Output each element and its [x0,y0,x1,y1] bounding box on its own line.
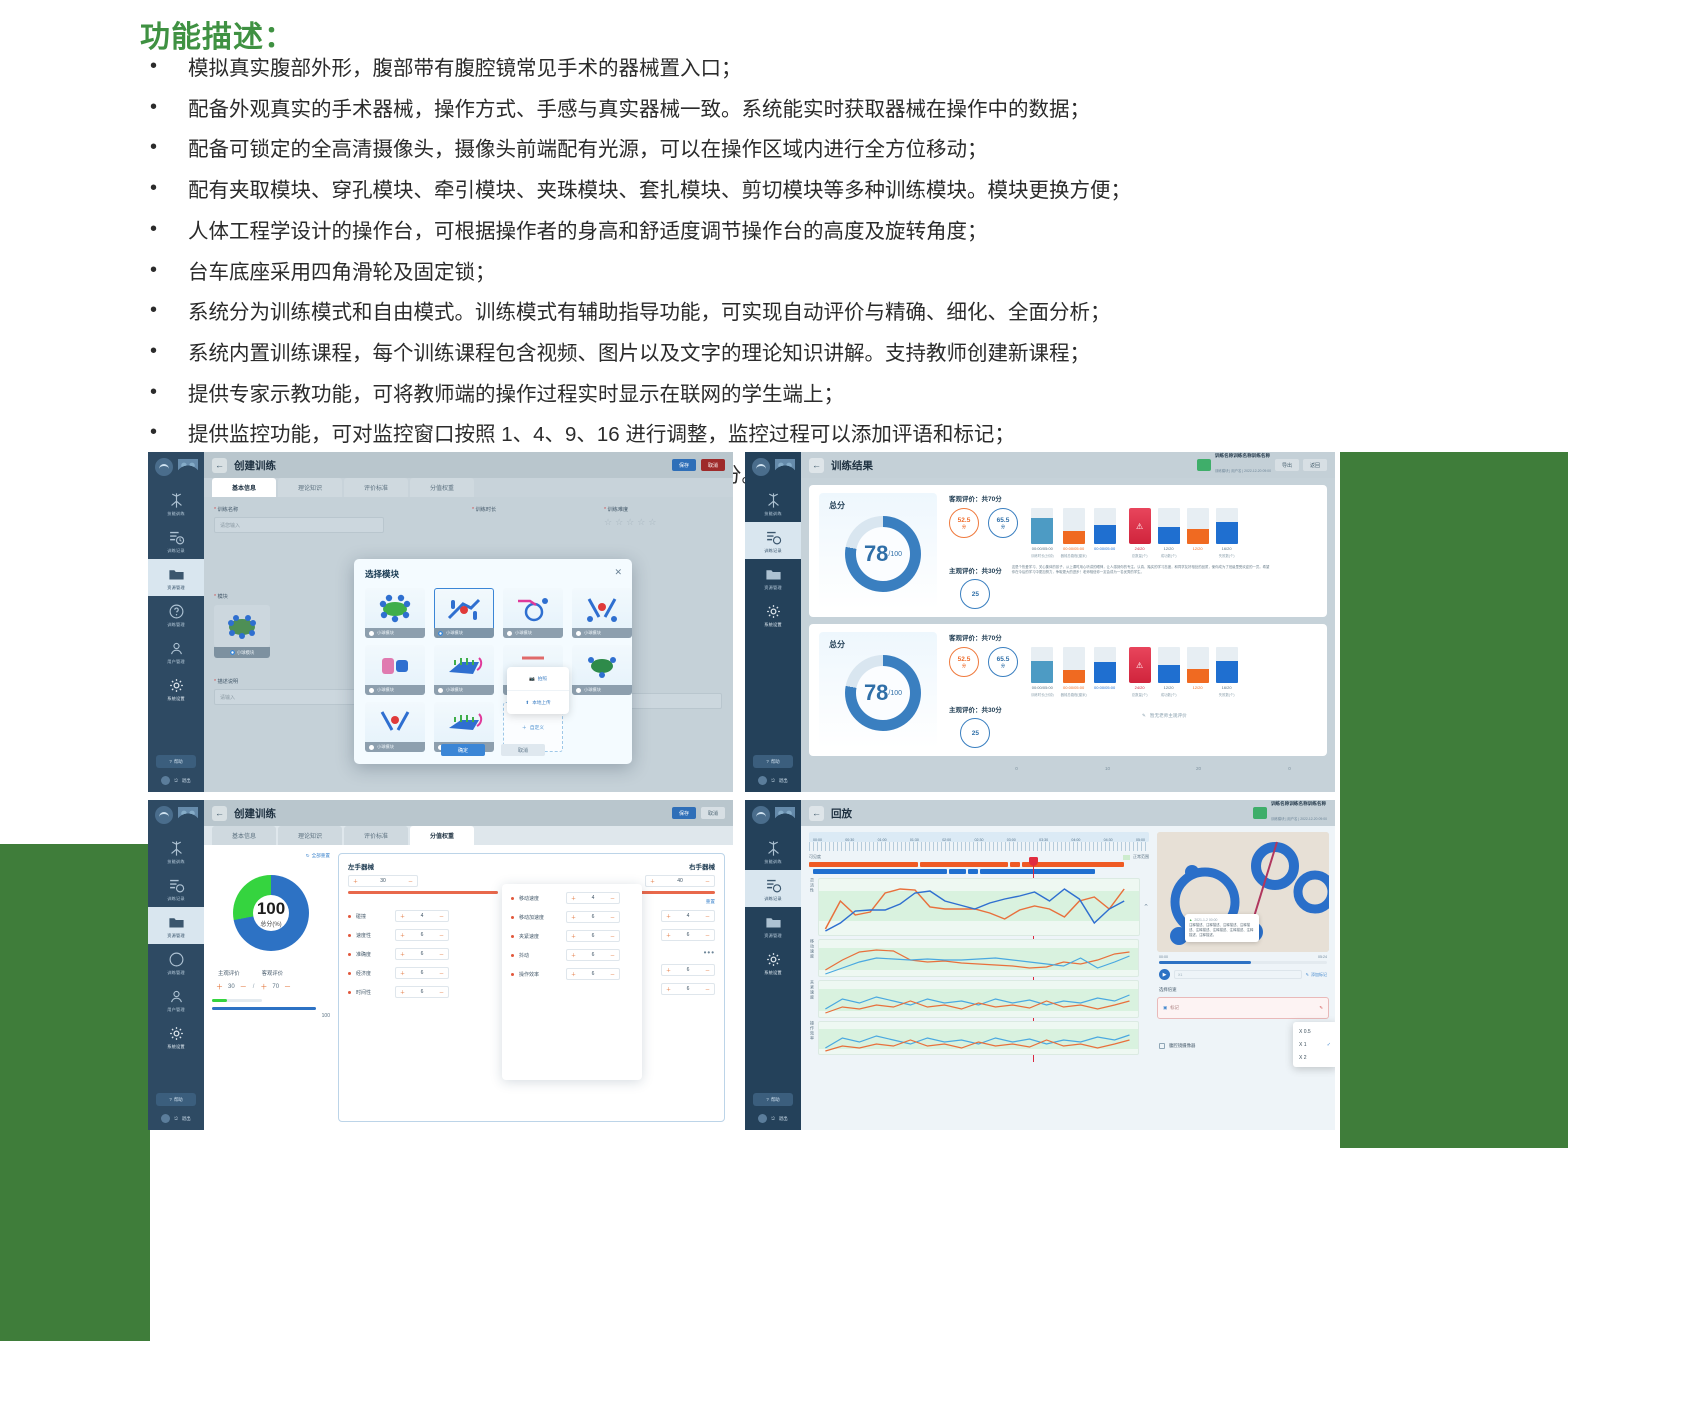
check-icon: ✓ [1327,1042,1331,1048]
bar-item: 00:00/05:00训练时长(分钟) [1031,647,1054,697]
left-hand-title: 左手器械 [348,861,374,871]
more-dots-icon[interactable]: ••• [704,948,715,957]
param-stepper[interactable]: ＋4－ [661,910,715,922]
minus-icon[interactable]: － [705,986,710,993]
bar-item: 12/20 [1187,508,1209,558]
alert-icon: ⚠ [1129,647,1151,683]
bullet-icon [348,972,351,975]
logout-icon: ⎋ [771,1116,774,1121]
bar-caption: 16/20 [1222,685,1232,690]
confirm-button[interactable]: 确定 [441,744,485,756]
ruler-tick: 03:00 [1007,838,1016,842]
help-button[interactable]: ? 帮助 [753,755,793,768]
module-card[interactable]: 小球模块 [572,645,632,695]
minus-icon[interactable]: － [439,932,444,939]
back-arrow-icon[interactable]: ← [212,458,227,473]
user-row[interactable]: ⎋ 退出 [745,1114,801,1126]
param-row: 准确度＋6－ [348,948,526,960]
total-score-donut: 78 /100 [845,655,921,731]
required-mark: * [472,507,474,513]
radio-icon[interactable] [438,631,443,636]
bar-sublabel: 成功数(个) [1161,553,1177,558]
topbar: ← 训练结果 训练名称训练名称训练名称 训练模块 | 用户名 | 2022-12… [801,452,1335,478]
param-stepper[interactable]: ＋4－ [395,910,449,922]
star-icon[interactable]: ☆ [615,517,623,528]
param-stepper[interactable]: ＋6－ [661,929,715,941]
dialog-title: 选择模块 [365,568,621,580]
plus-icon[interactable]: ＋ [571,971,576,978]
sidebar-item-system-settings[interactable]: 系统设置 [148,1018,204,1055]
list-item: 配备外观真实的手术器械，操作方式、手感与真实器械一致。系统能实时获取器械在操作中… [140,95,1210,125]
minus-icon[interactable]: － [705,913,710,920]
plus-icon[interactable]: ＋ [666,986,671,993]
radio-icon[interactable] [576,688,581,693]
subjective-stepper[interactable]: ＋ 30 － [216,982,247,992]
logo-icon [155,458,173,476]
radio-icon[interactable] [369,688,374,693]
module-label-row[interactable]: 小球模块 [572,628,632,638]
teacher-comment: 这是个热爱学习、关心集体的孩子，从上课时用心听讲的眼神，让人感到你的专注。认真、… [1012,565,1272,575]
sidebar-item-label: 技能训练 [764,859,782,865]
minus-icon[interactable]: － [408,878,413,885]
subjective-block: 主观评价：共30分 25 [949,704,1002,748]
local-upload-option[interactable]: ⬆本地上传 [507,690,569,714]
sidebar-item-resource-management[interactable]: 资源管理 [148,907,204,944]
plus-icon[interactable]: ＋ [571,933,576,940]
bar-caption: 16/20 [1222,546,1232,551]
axis-tick: 10 [1062,766,1153,771]
module-label-row[interactable]: 小球模块 [503,628,563,638]
minus-icon[interactable]: － [610,971,615,978]
camera-tag-row[interactable]: ▣ 标记 ✎ [1157,997,1329,1019]
param-row: 夹紧速度＋6－ [511,930,633,942]
module-card[interactable]: 小球模块 [365,645,425,695]
bar-item-alert: ⚠24/20总数量(个) [1129,647,1151,697]
anatomy-icon [765,492,782,509]
objective-value: 70 [272,984,279,990]
param-stepper[interactable]: ＋4－ [566,892,620,904]
chart-axis-label: 移动速度 [809,939,815,977]
minus-icon[interactable]: － [439,913,444,920]
screenshot-score-weight: 技能训练 训练记录 资源管理 训练管理 用户管理 系统设置 [148,800,733,1130]
param-detail-popover: 移动速度＋4－ 移动加速度＋6－ 夹紧速度＋6－ 抖动＋6－ 操作效率＋6－ [502,884,642,1080]
sidebar-item-skill-training[interactable]: 技能训练 [745,833,801,870]
sidebar-item-training-records[interactable]: 训练记录 [148,522,204,559]
feature-list: 模拟真实腹部外形，腹部带有腹腔镜常见手术的器械置入口； 配备外观真实的手术器械，… [140,54,1210,502]
add-mark-button[interactable]: ✎ 添加标记 [1306,972,1327,978]
sidebar-footer: ? 帮助 ⎋ 退出 [148,755,204,788]
right-hand-stepper[interactable]: ＋40－ [645,875,715,887]
param-row: 移动速度＋4－ [511,892,633,904]
param-stepper[interactable]: ＋6－ [566,911,620,923]
speed-dropdown: X 0.5 X 1✓ X 2 [1293,1022,1335,1067]
subjective-score-ring: 25 [960,718,990,748]
plus-icon[interactable]: ＋ [650,878,655,885]
dialog-actions: 确定 取消 [354,744,632,756]
bar-track [1094,508,1116,544]
minus-icon[interactable]: － [705,967,710,974]
video-progress[interactable] [1159,961,1327,964]
bar-caption: 00:00/05:00 [1063,685,1084,690]
training-name-input[interactable]: 请您输入 [214,517,384,533]
bar-item: 12/20 [1187,647,1209,697]
field-label: * 训练名称 [214,506,384,513]
cancel-button[interactable]: 取消 [701,807,725,819]
bar-track [1158,508,1180,544]
upload-icon: ⬆ [525,700,529,706]
star-icon[interactable]: ☆ [648,517,656,528]
param-stepper[interactable]: ＋6－ [661,983,715,995]
bar-sublabel: 训练时长(分钟) [1031,692,1054,697]
param-stepper[interactable]: ＋6－ [395,948,449,960]
bar-caption: 12/20 [1164,546,1174,551]
tab-basic-info[interactable]: 基本信息 [212,478,276,497]
module-illustration-icon [374,708,416,736]
plus-icon[interactable]: ＋ [400,951,405,958]
module-label-row[interactable]: 小球模块 [572,685,632,695]
tab-score-weight[interactable]: 分值权重 [410,478,474,497]
minus-icon[interactable]: － [705,932,710,939]
module-thumbnail [572,645,632,685]
back-button[interactable]: 返回 [1303,459,1327,471]
save-button[interactable]: 保存 [672,807,696,819]
list-item: 系统分为训练模式和自由模式。训练模式有辅助指导功能，可实现自动评价与精确、细化、… [140,298,1210,328]
play-icon[interactable]: ▶ [1159,969,1170,980]
weight-summary: ↻ 全部重置 100 总分(%) 主观评价 客观评价 [212,853,330,1122]
radio-icon[interactable] [507,631,512,636]
sidebar-footer: ? 帮助 ⎋ 退出 [148,1093,204,1126]
help-label: 帮助 [174,759,183,765]
bar-fill [1216,522,1238,544]
sidebar: 技能训练 训练记录 资源管理 训练管理 用户管理 系统设置 [148,800,204,1130]
ruler-tick: 04:00 [1071,838,1080,842]
save-button[interactable]: 保存 [672,459,696,471]
sidebar-item-label: 训练管理 [167,622,185,628]
result-detail: 客观评价：共70分 52.5分 65.5分 00:00/05:00训练时长(分钟… [949,493,1317,609]
plus-icon[interactable]: ＋ [400,913,405,920]
gear-icon [765,951,782,968]
bar-fill [1158,527,1180,544]
sidebar-item-user-management[interactable]: 用户管理 [148,981,204,1018]
left-hand-stepper[interactable]: ＋30－ [348,875,418,887]
sidebar-item-training-records[interactable]: 训练记录 [745,870,801,907]
user-row[interactable]: ⎋ 退出 [745,776,801,788]
speed-option[interactable]: X 0.5 [1293,1025,1335,1038]
total-score-label: 总分 [829,500,937,511]
bullet-icon [511,916,514,919]
sidebar-item-label: 系统设置 [167,1044,185,1050]
plus-icon[interactable]: ＋ [400,989,405,996]
sidebar-item-training-management[interactable]: 训练管理 [148,596,204,633]
input-placeholder: 请输入 [220,694,235,701]
minus-icon[interactable]: － [284,982,291,992]
logout-label: 退出 [779,778,788,784]
sidebar-item-label: 训练管理 [167,970,185,976]
take-photo-option[interactable]: 📷拍照 [507,667,569,690]
sidebar-item-training-records[interactable]: 训练记录 [148,870,204,907]
sidebar-item-system-settings[interactable]: 系统设置 [745,944,801,981]
module-illustration-icon [374,593,416,623]
subjective-slider[interactable] [212,999,262,1002]
tab-basic-info[interactable]: 基本信息 [212,826,276,845]
param-stepper[interactable]: ＋6－ [661,964,715,976]
param-stepper[interactable]: ＋6－ [395,967,449,979]
chart-row: 移动速度 [809,939,1149,977]
sidebar-item-resource-management[interactable]: 资源管理 [745,907,801,944]
topbar-actions: 保存 取消 [672,459,725,471]
bar-caption: 00:00/05:00 [1032,546,1053,551]
note-time: 2021-1-2 00:00 [1194,918,1217,923]
segment [920,862,1008,867]
module-illustration-icon [443,650,485,680]
sidebar-item-user-management[interactable]: 用户管理 [148,633,204,670]
user-row[interactable]: ⎋ 退出 [148,1114,204,1126]
screenshot-training-result: 技能训练 训练记录 资源管理 系统设置 ? 帮助 [745,452,1335,792]
minus-icon[interactable]: － [240,982,247,992]
minus-icon[interactable]: ＋ [216,982,223,992]
pen-icon[interactable]: ✎ [1319,1005,1323,1011]
bar-sublabel: 器械总路程(厘米) [1061,692,1087,697]
speed-option[interactable]: X 2 [1293,1051,1335,1064]
field-label: * 模块 [214,593,270,600]
total-score-panel: 总分 78 /100 [819,493,937,609]
axis-tick: 0 [1244,766,1335,771]
gear-icon [168,677,185,694]
minus-icon[interactable]: － [439,970,444,977]
result-canvas: 总分 78 /100 客观评价：共70分 52.5分 65.5分 00:00/0 [801,478,1335,792]
back-arrow-icon[interactable]: ← [809,458,824,473]
logo-icon [752,806,770,824]
star-icon[interactable]: ☆ [604,517,612,528]
module-label: 小球模块 [377,630,394,636]
sidebar-item-training-management[interactable]: 训练管理 [148,944,204,981]
param-stepper[interactable]: ＋6－ [566,968,620,980]
module-thumbnail [365,588,425,628]
plus-icon[interactable]: ＋ [571,952,576,959]
close-icon[interactable]: ✕ [614,568,622,577]
ruler-tick: 03:30 [1039,838,1048,842]
left-hand-slider[interactable] [348,891,498,894]
tab-theory[interactable]: 理论知识 [278,478,342,497]
total-score-value: 78 [864,541,888,567]
bar-chart: 00:00/05:00训练时长(分钟) 00:00/05:00器械总路程(厘米)… [1031,647,1238,697]
segment [980,869,1094,874]
sidebar-item-resource-management[interactable]: 资源管理 [745,559,801,596]
module-illustration-icon [222,612,262,640]
module-card-selected[interactable]: 小球模块 [434,588,494,638]
metric-unit: 分 [1001,663,1005,669]
camera-icon: 📷 [529,676,535,682]
field-label: * 训练时长 [472,506,496,513]
total-score-unit: /100 [888,551,902,558]
user-row[interactable]: ⎋ 退出 [148,776,204,788]
sidebar-item-label: 技能训练 [764,511,782,517]
chevron-up-icon[interactable]: ⌃ [1143,903,1149,911]
objective-slider[interactable] [212,1007,316,1010]
module-chip[interactable]: 小球模块 [214,647,270,658]
minus-icon[interactable]: － [439,951,444,958]
video-controls: ▶ X1 ✎ 添加标记 [1157,969,1329,980]
minus-icon[interactable]: － [439,989,444,996]
plus-icon[interactable]: ＋ [666,932,671,939]
sidebar: 技能训练 训练记录 资源管理 训练管理 用户管理 系统设置 [148,452,204,792]
segment [968,869,978,874]
bullet-icon [348,953,351,956]
minus-icon[interactable]: － [610,933,615,940]
result-detail: 客观评价：共70分 52.5分 65.5分 00:00/05:00训练时长(分钟… [949,632,1317,748]
checkbox-icon[interactable] [1159,1043,1165,1049]
sidebar-item-skill-training[interactable]: 技能训练 [745,485,801,522]
weight-layout: ↻ 全部重置 100 总分(%) 主观评价 客观评价 [204,845,733,1130]
param-value: 6 [421,951,424,957]
sidebar-item-label: 资源管理 [764,933,782,939]
tab-score-weight[interactable]: 分值权重 [410,826,474,845]
avatar [161,1114,170,1123]
objective-metrics: 52.5分 65.5分 00:00/05:00训练时长(分钟) 00:00/05… [949,508,1317,558]
help-button[interactable]: ? 帮助 [156,755,196,768]
param-value: 6 [421,989,424,995]
metric-unit: 分 [962,524,966,530]
bar-caption: 00:00/05:00 [1032,685,1053,690]
sidebar: 技能训练 训练记录 资源管理 系统设置 ? 帮助 [745,452,801,792]
sidebar-item-training-records[interactable]: 训练记录 [745,522,801,559]
sidebar-item-system-settings[interactable]: 系统设置 [148,670,204,707]
back-arrow-icon[interactable]: ← [212,806,227,821]
custom-module-label: 自定义 [530,724,544,731]
segment [809,862,918,867]
app-logo [752,806,795,824]
param-label: 移动速度 [519,895,561,902]
star-icon[interactable]: ☆ [626,517,634,528]
minus-icon[interactable]: － [705,878,710,885]
help-icon: ? [169,759,171,764]
sidebar-item-skill-training[interactable]: 技能训练 [148,485,204,522]
subjective-block: 主观评价：共30分 25 [949,565,1002,609]
left-hand-value: 30 [380,878,386,884]
tab-theory[interactable]: 理论知识 [278,826,342,845]
bar-sublabel: 器械总路程(厘米) [1061,553,1087,558]
folder-icon [765,914,782,931]
plus-icon[interactable]: ＋ [400,932,405,939]
module-label-row[interactable]: 小球模块 [434,628,494,638]
minus-icon[interactable]: － [610,914,615,921]
total-score-label: 总分 [829,639,937,650]
sidebar-item-system-settings[interactable]: 系统设置 [745,596,801,633]
gear-icon [765,603,782,620]
timeline-ruler[interactable]: 00:00 00:30 01:00 01:30 02:00 02:30 03:0… [809,832,1149,842]
back-arrow-icon[interactable]: ← [809,806,824,821]
tab-criteria[interactable]: 评价标准 [344,478,408,497]
module-label-row[interactable]: 小球模块 [434,685,494,695]
page-title: 训练结果 [831,458,873,473]
module-card[interactable]: 小球模块 [572,588,632,638]
help-label: 帮助 [771,1097,780,1103]
param-row: 速度性＋6－ [348,929,526,941]
plus-icon[interactable]: ＋ [666,967,671,974]
sidebar-item-label: 用户管理 [167,659,185,665]
radio-icon[interactable] [369,631,374,636]
param-stepper[interactable]: ＋6－ [566,949,620,961]
tab-criteria[interactable]: 评价标准 [344,826,408,845]
cancel-button[interactable]: 取消 [701,459,725,471]
module-thumbnail [434,588,494,628]
records-icon [765,529,782,546]
bar-caption: 12/20 [1193,546,1203,551]
sidebar-item-skill-training[interactable]: 技能训练 [148,833,204,870]
difficulty-stars[interactable]: ☆☆☆☆☆ [604,517,656,528]
records-icon [168,877,185,894]
ruler-tick: 01:30 [910,838,919,842]
help-button[interactable]: ? 帮助 [156,1093,196,1106]
ruler-tick: 02:30 [974,838,983,842]
separator: / [253,984,255,990]
logo-icon [752,458,770,476]
param-row: 操作效率＋6－ [511,968,633,980]
track-label: 可见度 [809,854,821,860]
chart-row: 灵活性 ⌃ [809,878,1149,936]
plus-icon[interactable]: ＋ [666,913,671,920]
minus-icon[interactable]: － [610,895,615,902]
param-stepper[interactable]: ＋6－ [395,929,449,941]
export-button[interactable]: 导出 [1275,459,1299,471]
module-card[interactable]: 小球模块 [365,588,425,638]
plus-icon[interactable]: ＋ [571,895,576,902]
radio-icon[interactable] [576,631,581,636]
chart-svg [819,940,1138,977]
axis-ticks-row: 0 10 20 0 [801,763,1335,771]
help-button[interactable]: ? 帮助 [753,1093,793,1106]
reset-all-button[interactable]: ↻ 全部重置 [306,853,330,859]
total-score-panel: 总分 78 /100 [819,632,937,748]
cancel-button[interactable]: 取消 [501,744,545,756]
plus-icon[interactable]: ＋ [260,982,267,992]
module-card[interactable]: 小球模块 [503,588,563,638]
form-canvas: * 训练名称 请您输入 * 训练时长 * 训练难度 ☆☆☆☆☆ * 模块 [204,497,733,792]
param-stepper[interactable]: ＋6－ [566,930,620,942]
sidebar-item-resource-management[interactable]: 资源管理 [148,559,204,596]
plus-icon[interactable]: ＋ [353,878,358,885]
param-stepper[interactable]: ＋6－ [395,986,449,998]
logout-label: 退出 [779,1116,788,1122]
brand-mark-icon [775,807,795,823]
radio-icon [230,650,235,655]
param-label: 经济度 [356,970,390,977]
module-grid: 小球模块 小球模块 小球模块 小球模块 小球模块 小球模块 小球模块 小球模块 … [365,588,621,752]
records-icon [168,529,185,546]
video-preview[interactable]: ▲ 2021-1-2 00:00 注释描述、注释描述、注释描述、注释描述、注释描… [1157,832,1329,952]
bar-caption: 24/20 [1135,546,1145,551]
video-times: 00:00 05:24 [1157,952,1329,959]
speed-option-selected[interactable]: X 1✓ [1293,1038,1335,1051]
objective-stepper[interactable]: ＋ 70 － [260,982,291,992]
gear-icon [168,1025,185,1042]
plus-icon[interactable]: ＋ [400,970,405,977]
required-mark: * [214,507,216,513]
module-card[interactable]: 小球模块 [434,645,494,695]
module-label-row[interactable]: 小球模块 [365,685,425,695]
bar-fill [1063,531,1085,544]
minus-icon[interactable]: － [610,952,615,959]
plus-icon[interactable]: ＋ [571,914,576,921]
star-icon[interactable]: ☆ [637,517,645,528]
list-item: 提供专家示教功能，可将教师端的操作过程实时显示在联网的学生端上； [140,380,1210,410]
module-thumbnail[interactable] [214,605,270,647]
param-value: 4 [592,895,595,901]
speed-display[interactable]: X1 [1174,970,1302,979]
radio-icon[interactable] [438,688,443,693]
module-label-row[interactable]: 小球模块 [365,628,425,638]
select-module-dialog: 选择模块 ✕ 小球模块 小球模块 小球模块 小球模块 小球模块 小球模块 小球模… [354,559,632,764]
